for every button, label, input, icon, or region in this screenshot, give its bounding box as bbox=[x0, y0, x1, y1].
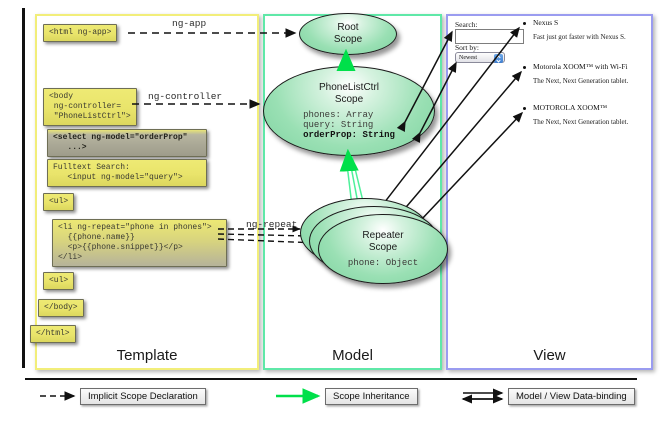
scope-prop-orderprop: orderProp: String bbox=[303, 130, 395, 140]
left-edge-rule bbox=[22, 8, 25, 368]
scope-repeater: Repeater Scope phone: Object bbox=[318, 214, 448, 284]
scope-root-title: Root Scope bbox=[334, 22, 362, 46]
list-bullet bbox=[523, 22, 526, 25]
legend-item-implicit: Implicit Scope Declaration bbox=[80, 388, 206, 405]
panel-template-label: Template bbox=[37, 347, 257, 364]
code-ul-close: <ul> bbox=[43, 272, 74, 290]
chevron-updown-icon[interactable] bbox=[494, 54, 503, 63]
panel-model-label: Model bbox=[265, 347, 440, 364]
scope-repeater-props: phone: Object bbox=[348, 258, 418, 268]
sort-select-value: Newest bbox=[459, 55, 477, 61]
scope-prop-phones: phones: Array bbox=[303, 110, 395, 120]
scope-repeater-title: Repeater Scope bbox=[362, 230, 403, 254]
code-li-repeat: <li ng-repeat="phone in phones"> {{phone… bbox=[52, 219, 227, 267]
list-bullet bbox=[523, 66, 526, 69]
phone-snippet-2: The Next, Next Generation tablet. bbox=[533, 118, 628, 126]
search-input[interactable] bbox=[455, 29, 524, 44]
code-body-close: </body> bbox=[38, 299, 84, 317]
search-label: Search: bbox=[455, 20, 478, 29]
edge-label-ng-repeat: ng-repeat bbox=[246, 219, 297, 230]
code-ul-open: <ul> bbox=[43, 193, 74, 211]
legend-item-databinding: Model / View Data-binding bbox=[508, 388, 635, 405]
scope-prop-query: query: String bbox=[303, 120, 395, 130]
scope-phonelistctrl-props: phones: Array query: String orderProp: S… bbox=[303, 110, 395, 140]
scope-root: Root Scope bbox=[299, 13, 397, 55]
code-fulltext: Fulltext Search: <input ng-model="query"… bbox=[47, 159, 207, 187]
diagram-canvas: Template <html ng-app> <body ng-controll… bbox=[0, 0, 661, 425]
code-html-open: <html ng-app> bbox=[43, 24, 117, 42]
sort-label: Sort by: bbox=[455, 43, 479, 52]
legend-divider bbox=[25, 378, 637, 380]
phone-snippet-0: Fast just got faster with Nexus S. bbox=[533, 33, 626, 41]
edge-label-ng-app: ng-app bbox=[172, 18, 206, 29]
phone-name-2: MOTOROLA XOOM™ bbox=[533, 103, 607, 112]
edge-label-ng-controller: ng-controller bbox=[148, 91, 222, 102]
scope-phonelistctrl: PhoneListCtrl Scope phones: Array query:… bbox=[263, 66, 435, 156]
phone-name-1: Motorola XOOM™ with Wi-Fi bbox=[533, 62, 628, 71]
code-body-open: <body ng-controller= "PhoneListCtrl"> bbox=[43, 88, 137, 126]
scope-prop-phone: phone: Object bbox=[348, 258, 418, 268]
code-select: <select ng-model="orderProp" ...> bbox=[47, 129, 207, 157]
sort-select[interactable]: Newest bbox=[455, 52, 505, 63]
phone-name-0: Nexus S bbox=[533, 18, 558, 27]
list-bullet bbox=[523, 107, 526, 110]
code-html-close: </html> bbox=[30, 325, 76, 343]
panel-view-label: View bbox=[448, 347, 651, 364]
scope-phonelistctrl-title: PhoneListCtrl Scope bbox=[319, 82, 379, 106]
phone-snippet-1: The Next, Next Generation tablet. bbox=[533, 77, 628, 85]
legend-item-inheritance: Scope Inheritance bbox=[325, 388, 418, 405]
